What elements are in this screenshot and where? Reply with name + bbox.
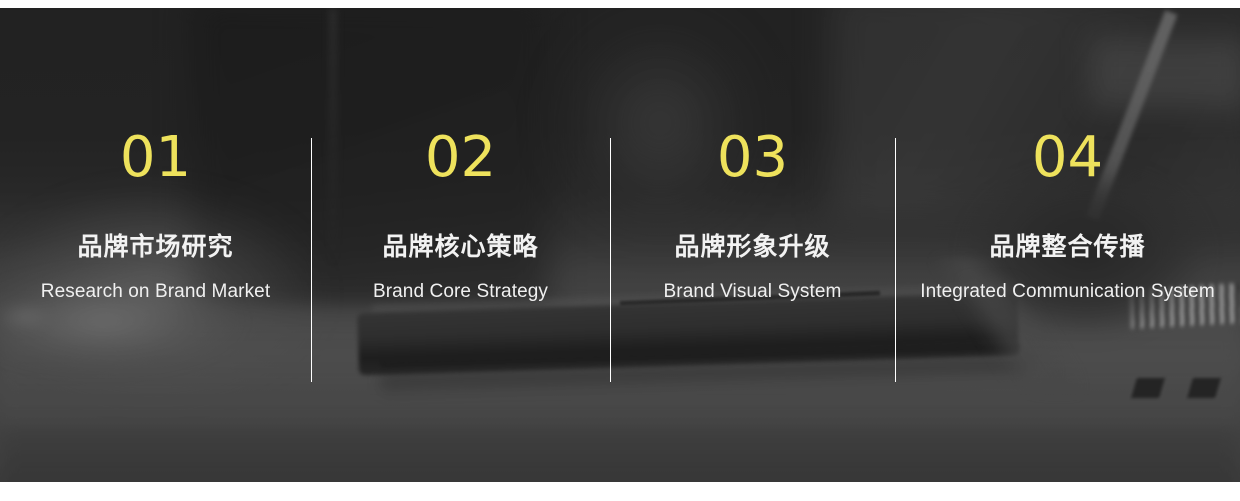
top-white-edge (0, 0, 1240, 8)
column-divider-2 (610, 138, 611, 382)
column-divider-3 (895, 138, 896, 382)
step-item-04[interactable]: 04 品牌整合传播 Integrated Communication Syste… (895, 8, 1240, 482)
step-number: 02 (311, 130, 610, 186)
column-divider-1 (311, 138, 312, 382)
bottom-white-edge (0, 482, 1240, 501)
step-number: 04 (895, 130, 1240, 186)
step-title-en: Integrated Communication System (895, 280, 1240, 304)
step-title-en: Research on Brand Market (0, 280, 311, 304)
brand-process-banner: 01 品牌市场研究 Research on Brand Market 02 品牌… (0, 0, 1240, 501)
step-item-01[interactable]: 01 品牌市场研究 Research on Brand Market (0, 8, 311, 482)
step-title-cn: 品牌市场研究 (0, 231, 311, 262)
step-title-en: Brand Core Strategy (311, 280, 610, 304)
step-title-en: Brand Visual System (610, 280, 895, 304)
step-number: 03 (610, 130, 895, 186)
step-item-02[interactable]: 02 品牌核心策略 Brand Core Strategy (311, 8, 610, 482)
step-title-cn: 品牌整合传播 (895, 231, 1240, 262)
step-columns: 01 品牌市场研究 Research on Brand Market 02 品牌… (0, 8, 1240, 482)
step-number: 01 (0, 130, 311, 186)
step-item-03[interactable]: 03 品牌形象升级 Brand Visual System (610, 8, 895, 482)
step-title-cn: 品牌形象升级 (610, 231, 895, 262)
step-title-cn: 品牌核心策略 (311, 231, 610, 262)
